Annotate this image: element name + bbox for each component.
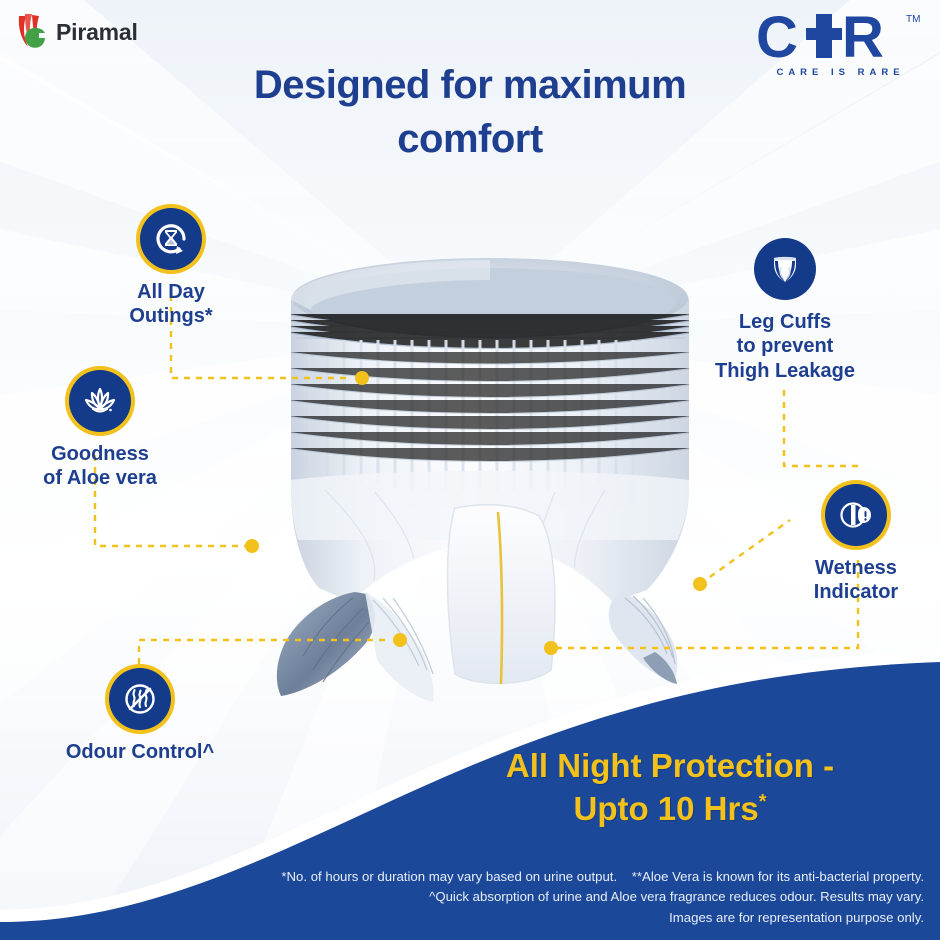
claim-line-1: All Night Protection -	[420, 745, 920, 788]
disclaimer-line-2: ^Quick absorption of urine and Aloe vera…	[60, 887, 924, 907]
claim-asterisk: *	[759, 791, 767, 813]
disclaimer: *No. of hours or duration may vary based…	[60, 867, 924, 928]
feature-badge-all-day-outings	[140, 208, 202, 270]
feature-badge-leg-cuffs	[754, 238, 816, 300]
disclaimer-line-3: Images are for representation purpose on…	[60, 908, 924, 928]
night-protection-claim: All Night Protection - Upto 10 Hrs*	[420, 745, 920, 831]
disclaimer-line-1: *No. of hours or duration may vary based…	[60, 867, 924, 887]
feature-badge-odour-control	[109, 668, 171, 730]
feature-badge-aloe-vera	[69, 370, 131, 432]
feature-label-odour-control: Odour Control^	[38, 740, 242, 764]
piramal-wordmark: Piramal	[56, 19, 138, 46]
leg-cuffs-icon	[765, 249, 805, 289]
claim-line-2: Upto 10 Hrs*	[420, 788, 920, 831]
feature-label-all-day-outings: All Day Outings*	[88, 280, 254, 329]
svg-text:TM: TM	[906, 14, 920, 25]
feature-all-day-outings[interactable]: All Day Outings*	[88, 208, 254, 329]
feature-odour-control[interactable]: Odour Control^	[38, 668, 242, 764]
piramal-logo: Piramal	[14, 12, 138, 52]
svg-text:R: R	[842, 8, 884, 64]
feature-wetness-indicator[interactable]: Wetness Indicator	[770, 484, 940, 605]
headline-line-1: Designed for maximum	[0, 58, 940, 112]
svg-text:C: C	[756, 8, 798, 64]
feature-label-wetness-indicator: Wetness Indicator	[770, 556, 940, 605]
page-title: Designed for maximum comfort	[0, 58, 940, 166]
feature-label-leg-cuffs: Leg Cuffs to prevent Thigh Leakage	[688, 310, 882, 383]
hourglass-rotate-icon	[151, 219, 191, 259]
claim-line-2-text: Upto 10 Hrs	[573, 790, 758, 827]
headline-line-2: comfort	[0, 112, 940, 166]
product-image	[255, 240, 725, 710]
no-odour-icon	[120, 679, 160, 719]
feature-label-aloe-vera: Goodness of Aloe vera	[12, 442, 188, 491]
feature-leg-cuffs[interactable]: Leg Cuffs to prevent Thigh Leakage	[688, 238, 882, 383]
cir-logomark-icon: C R TM	[754, 8, 922, 64]
feature-badge-wetness-indicator	[825, 484, 887, 546]
piramal-flame-icon	[14, 12, 48, 52]
feature-aloe-vera[interactable]: Goodness of Aloe vera	[12, 370, 188, 491]
aloe-plant-icon	[80, 381, 120, 421]
infographic-canvas: Piramal C R TM CARE IS RARE Designed for…	[0, 0, 940, 940]
wetness-indicator-icon	[836, 495, 876, 535]
